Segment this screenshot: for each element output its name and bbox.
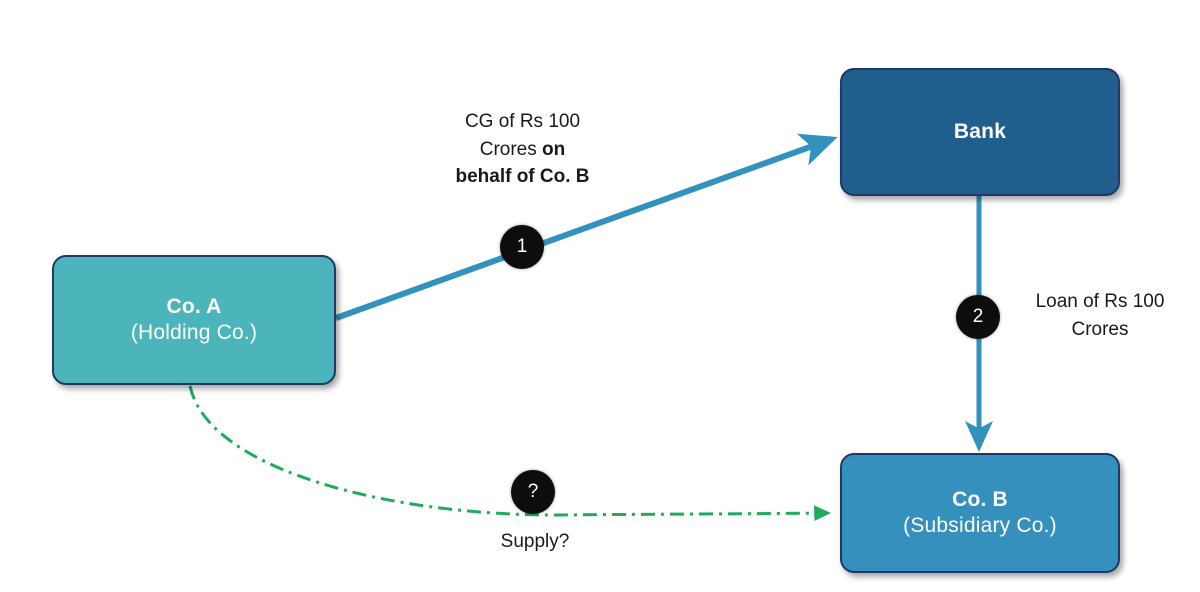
node-co-b-title: Co. B	[952, 487, 1008, 513]
edge-supply-label: Supply?	[455, 528, 615, 556]
edge-loan-label: Loan of Rs 100 Crores	[1005, 288, 1195, 343]
node-co-b[interactable]: Co. B (Subsidiary Co.)	[840, 453, 1120, 573]
node-bank[interactable]: Bank	[840, 68, 1120, 196]
node-bank-title: Bank	[954, 119, 1006, 145]
node-co-a-title: Co. A	[166, 294, 221, 320]
diagram-canvas: Co. A (Holding Co.) Bank Co. B (Subsidia…	[0, 0, 1200, 592]
node-co-a[interactable]: Co. A (Holding Co.)	[52, 255, 336, 385]
edge-supply-curve	[190, 386, 828, 515]
node-co-b-subtitle: (Subsidiary Co.)	[903, 513, 1057, 539]
step-badge-2: 2	[956, 295, 1000, 339]
step-badge-question: ?	[511, 470, 555, 514]
edge-guarantee-label: CG of Rs 100 Crores on behalf of Co. B	[405, 108, 640, 191]
step-badge-1: 1	[500, 225, 544, 269]
node-co-a-subtitle: (Holding Co.)	[131, 320, 257, 346]
